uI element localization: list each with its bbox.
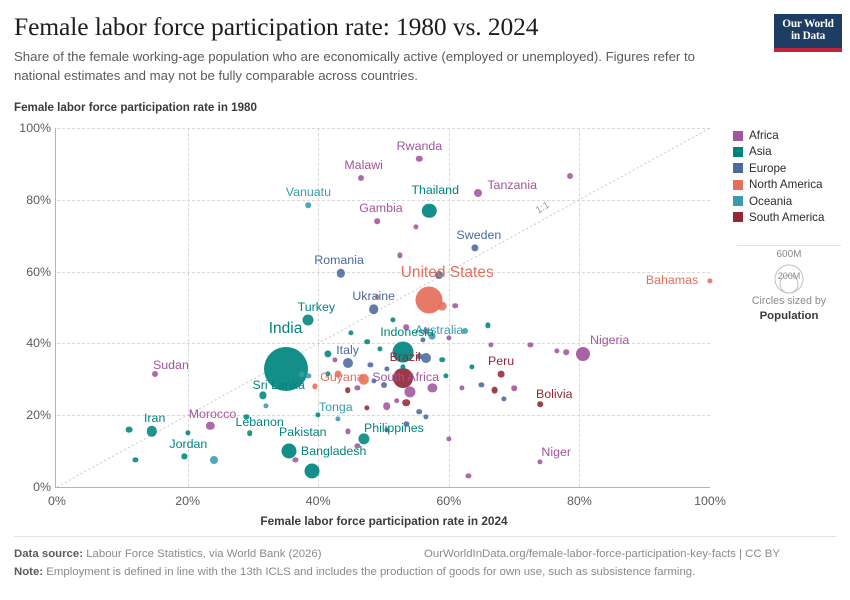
data-point-guyana[interactable]	[359, 374, 369, 384]
data-point-jordan[interactable]	[182, 454, 187, 459]
chart-subtitle: Share of the female working-age populati…	[14, 48, 741, 85]
footer-source-label: Data source:	[14, 548, 83, 560]
legend-swatch-icon	[733, 180, 743, 190]
data-point-bolivia[interactable]	[537, 402, 543, 408]
data-label-nigeria: Nigeria	[590, 333, 629, 347]
data-point-malawi[interactable]	[358, 175, 364, 181]
data-point-unlabeled-25[interactable]	[334, 371, 341, 378]
data-point-sudan[interactable]	[152, 371, 158, 377]
data-label-sudan: Sudan	[153, 358, 189, 372]
data-point-italy[interactable]	[343, 358, 353, 368]
data-point-unlabeled-05[interactable]	[453, 303, 459, 309]
data-label-united-states: United States	[401, 264, 494, 282]
data-label-italy: Italy	[336, 343, 359, 357]
data-point-unlabeled-30[interactable]	[355, 386, 360, 391]
data-point-south-africa[interactable]	[404, 386, 415, 397]
footer-divider	[14, 536, 836, 537]
data-point-unlabeled-49[interactable]	[210, 456, 218, 464]
data-point-unlabeled-51[interactable]	[133, 457, 138, 462]
chart-header: Female labor force participation rate: 1…	[14, 12, 754, 86]
data-label-iran: Iran	[144, 411, 165, 425]
data-label-pakistan: Pakistan	[279, 425, 327, 439]
data-point-unlabeled-66[interactable]	[443, 373, 448, 378]
data-point-tonga[interactable]	[335, 416, 340, 421]
gridline-horizontal	[57, 343, 710, 344]
y-tick-label: 40%	[26, 336, 51, 350]
x-tick-label: 60%	[436, 494, 461, 508]
data-label-tanzania: Tanzania	[487, 178, 537, 192]
data-label-morocco: Morocco	[189, 407, 237, 421]
data-point-unlabeled-55[interactable]	[374, 294, 379, 299]
data-point-unlabeled-01[interactable]	[567, 173, 573, 179]
data-point-unlabeled-46[interactable]	[384, 427, 389, 432]
y-tick-label: 80%	[26, 193, 51, 207]
x-axis-title: Female labor force participation rate in…	[0, 514, 768, 528]
legend-swatch-icon	[733, 212, 743, 222]
legend-item-oceania[interactable]: Oceania	[733, 195, 845, 208]
data-point-peru[interactable]	[498, 371, 505, 378]
data-point-unlabeled-54[interactable]	[306, 373, 311, 378]
legend-swatch-icon	[733, 131, 743, 141]
footer-note-label: Note:	[14, 566, 43, 578]
legend-swatch-icon	[733, 196, 743, 206]
legend-item-label: Oceania	[749, 195, 792, 208]
y-tick-label: 0%	[33, 480, 51, 494]
data-point-unlabeled-43[interactable]	[423, 414, 428, 419]
data-point-unlabeled-48[interactable]	[293, 457, 298, 462]
data-point-unlabeled-45[interactable]	[345, 429, 350, 434]
data-point-unlabeled-31[interactable]	[345, 387, 351, 393]
data-point-unlabeled-36[interactable]	[511, 385, 517, 391]
data-point-united-states[interactable]	[416, 287, 443, 314]
data-point-gambia[interactable]	[374, 219, 380, 225]
data-point-pakistan[interactable]	[281, 444, 296, 459]
data-point-lebanon[interactable]	[247, 430, 253, 436]
data-label-bahamas: Bahamas	[646, 273, 698, 287]
x-tick-label: 0%	[48, 494, 66, 508]
chart-footer: Data source: Labour Force Statistics, vi…	[14, 545, 838, 582]
data-point-unlabeled-42[interactable]	[417, 409, 423, 415]
data-label-philippines: Philippines	[364, 421, 424, 435]
y-axis-line	[55, 128, 56, 488]
owid-logo-line2: in Data	[791, 31, 825, 43]
data-point-unlabeled-50[interactable]	[125, 426, 132, 433]
x-tick-label: 40%	[306, 494, 331, 508]
data-label-turkey: Turkey	[298, 300, 335, 314]
gridline-horizontal	[57, 128, 710, 129]
reference-line-label: 1:1	[534, 199, 552, 216]
data-point-unlabeled-26[interactable]	[325, 371, 330, 376]
data-label-rwanda: Rwanda	[397, 139, 442, 153]
data-point-bangladesh[interactable]	[304, 463, 319, 478]
y-tick-label: 60%	[26, 265, 51, 279]
gridline-vertical	[449, 128, 450, 487]
legend-item-label: Africa	[749, 129, 779, 142]
data-point-unlabeled-22[interactable]	[348, 330, 353, 335]
footer-note-text: Employment is defined in line with the 1…	[46, 566, 695, 578]
data-point-unlabeled-07[interactable]	[391, 317, 396, 322]
gridline-vertical	[579, 128, 580, 487]
legend-divider	[737, 245, 841, 246]
data-point-indonesia[interactable]	[393, 342, 414, 363]
data-point-unlabeled-53[interactable]	[263, 404, 268, 409]
data-point-unlabeled-58[interactable]	[446, 436, 451, 441]
svg-text:200M: 200M	[778, 271, 801, 281]
data-point-unlabeled-08[interactable]	[404, 324, 410, 330]
data-point-unlabeled-14[interactable]	[528, 343, 533, 348]
data-label-malawi: Malawi	[344, 158, 383, 172]
legend-swatch-icon	[733, 147, 743, 157]
data-point-unlabeled-64[interactable]	[312, 384, 317, 389]
data-label-vanuatu: Vanuatu	[286, 185, 331, 199]
footer-source-text: Labour Force Statistics, via World Bank …	[86, 548, 321, 560]
data-point-brazil[interactable]	[393, 368, 413, 388]
x-axis-line	[55, 487, 710, 488]
data-point-unlabeled-52[interactable]	[244, 414, 249, 419]
population-size-legend: 600M 200M Circles sized by Population	[733, 248, 845, 324]
data-point-unlabeled-02[interactable]	[414, 224, 419, 229]
size-legend-caption-line1: Circles sized by	[752, 295, 826, 307]
x-tick-label: 100%	[694, 494, 726, 508]
footer-source: Data source: Labour Force Statistics, vi…	[14, 545, 424, 563]
data-point-niger[interactable]	[538, 459, 543, 464]
data-point-sri-lanka[interactable]	[259, 392, 266, 399]
data-point-bahamas[interactable]	[707, 278, 712, 283]
legend-item-asia[interactable]: Asia	[733, 145, 845, 158]
legend-item-africa[interactable]: Africa	[733, 129, 845, 142]
data-point-unlabeled-29[interactable]	[381, 382, 387, 388]
size-legend-caption: Circles sized by Population	[733, 295, 845, 324]
data-point-philippines[interactable]	[358, 433, 369, 444]
data-label-sweden: Sweden	[457, 228, 502, 242]
footer-source-line: Data source: Labour Force Statistics, vi…	[14, 545, 838, 563]
data-point-unlabeled-32[interactable]	[428, 384, 437, 393]
data-point-vanuatu[interactable]	[306, 202, 312, 208]
data-point-tanzania[interactable]	[474, 189, 482, 197]
data-point-romania[interactable]	[337, 269, 345, 277]
data-point-ukraine[interactable]	[369, 304, 379, 314]
data-point-unlabeled-23[interactable]	[324, 351, 331, 358]
data-point-sweden[interactable]	[471, 245, 478, 252]
data-point-unlabeled-24[interactable]	[332, 357, 337, 362]
data-point-unlabeled-09[interactable]	[423, 328, 429, 334]
x-tick-label: 20%	[175, 494, 200, 508]
data-point-unlabeled-57[interactable]	[466, 474, 471, 479]
data-point-unlabeled-13[interactable]	[489, 343, 494, 348]
data-label-peru: Peru	[488, 354, 514, 368]
data-point-unlabeled-28[interactable]	[371, 379, 376, 384]
data-point-unlabeled-06[interactable]	[438, 301, 447, 310]
data-point-unlabeled-12[interactable]	[446, 335, 451, 340]
data-label-gambia: Gambia	[359, 201, 402, 215]
y-tick-label: 100%	[19, 121, 51, 135]
size-legend-caption-line2: Population	[760, 310, 819, 322]
legend-item-europe[interactable]: Europe	[733, 162, 845, 175]
data-point-unlabeled-20[interactable]	[439, 357, 445, 363]
data-point-thailand[interactable]	[422, 203, 436, 217]
data-point-rwanda[interactable]	[416, 155, 422, 161]
data-point-unlabeled-44[interactable]	[316, 413, 321, 418]
data-label-thailand: Thailand	[411, 183, 459, 197]
footer-note: Note: Employment is defined in line with…	[14, 563, 695, 581]
data-point-unlabeled-37[interactable]	[502, 396, 507, 401]
y-tick-label: 20%	[26, 408, 51, 422]
data-point-unlabeled-65[interactable]	[469, 364, 474, 369]
data-point-unlabeled-34[interactable]	[479, 382, 484, 387]
data-label-niger: Niger	[541, 445, 571, 459]
data-point-unlabeled-62[interactable]	[384, 366, 389, 371]
data-point-india[interactable]	[264, 347, 308, 391]
page-title: Female labor force participation rate: 1…	[14, 12, 754, 41]
data-label-bolivia: Bolivia	[536, 387, 573, 401]
legend-item-south-america[interactable]: South America	[733, 211, 845, 224]
data-point-unlabeled-27[interactable]	[299, 371, 305, 377]
data-point-unlabeled-03[interactable]	[435, 271, 443, 279]
data-label-india: India	[269, 320, 303, 338]
owid-logo[interactable]: Our World in Data	[774, 14, 842, 52]
x-tick-label: 80%	[567, 494, 592, 508]
data-point-unlabeled-47[interactable]	[404, 422, 409, 427]
footer-url[interactable]: OurWorldInData.org/female-labor-force-pa…	[424, 545, 838, 563]
data-point-unlabeled-60[interactable]	[185, 431, 190, 436]
size-legend-circles: 600M 200M	[755, 248, 823, 294]
data-point-unlabeled-19[interactable]	[421, 353, 431, 363]
gridline-horizontal	[57, 200, 710, 201]
data-point-unlabeled-11[interactable]	[420, 337, 425, 342]
data-point-unlabeled-17[interactable]	[378, 346, 383, 351]
data-point-turkey[interactable]	[303, 315, 314, 326]
y-axis-title: Female labor force participation rate in…	[14, 101, 257, 114]
data-point-nigeria[interactable]	[576, 347, 590, 361]
legend-item-label: South America	[749, 211, 824, 224]
data-point-unlabeled-59[interactable]	[355, 443, 360, 448]
data-point-unlabeled-38[interactable]	[394, 398, 400, 404]
data-point-unlabeled-33[interactable]	[459, 386, 464, 391]
data-label-romania: Romania	[314, 253, 364, 267]
legend-swatch-icon	[733, 163, 743, 173]
data-label-tonga: Tonga	[319, 400, 353, 414]
continent-legend: AfricaAsiaEuropeNorth AmericaOceaniaSout…	[733, 129, 845, 227]
gridline-horizontal	[57, 272, 710, 273]
chart-page: Female labor force participation rate: 1…	[0, 0, 850, 600]
data-point-iran[interactable]	[146, 426, 156, 436]
svg-text:600M: 600M	[776, 249, 801, 260]
legend-item-north-america[interactable]: North America	[733, 178, 845, 191]
data-point-morocco[interactable]	[206, 422, 214, 430]
footer-note-line: Note: Employment is defined in line with…	[14, 563, 838, 581]
data-point-unlabeled-21[interactable]	[364, 339, 370, 345]
scatter-plot-area: 1:1 0%20%40%60%80%100% 0%20%40%60%80%100…	[57, 128, 710, 487]
legend-item-label: Asia	[749, 145, 772, 158]
data-point-unlabeled-63[interactable]	[368, 362, 373, 367]
data-point-unlabeled-10[interactable]	[429, 333, 436, 340]
data-label-lebanon: Lebanon	[236, 415, 284, 429]
data-point-unlabeled-56[interactable]	[485, 323, 490, 328]
data-point-unlabeled-15[interactable]	[554, 348, 559, 353]
data-point-unlabeled-40[interactable]	[383, 402, 391, 410]
gridline-vertical	[318, 128, 319, 487]
legend-item-label: Europe	[749, 162, 786, 175]
data-point-unlabeled-04[interactable]	[397, 253, 402, 258]
legend-item-label: North America	[749, 178, 822, 191]
data-point-australia[interactable]	[462, 328, 468, 334]
data-point-unlabeled-35[interactable]	[491, 387, 498, 394]
gridline-horizontal	[57, 415, 710, 416]
data-point-unlabeled-16[interactable]	[564, 350, 570, 356]
data-point-unlabeled-39[interactable]	[403, 399, 411, 407]
data-point-unlabeled-41[interactable]	[365, 405, 370, 410]
